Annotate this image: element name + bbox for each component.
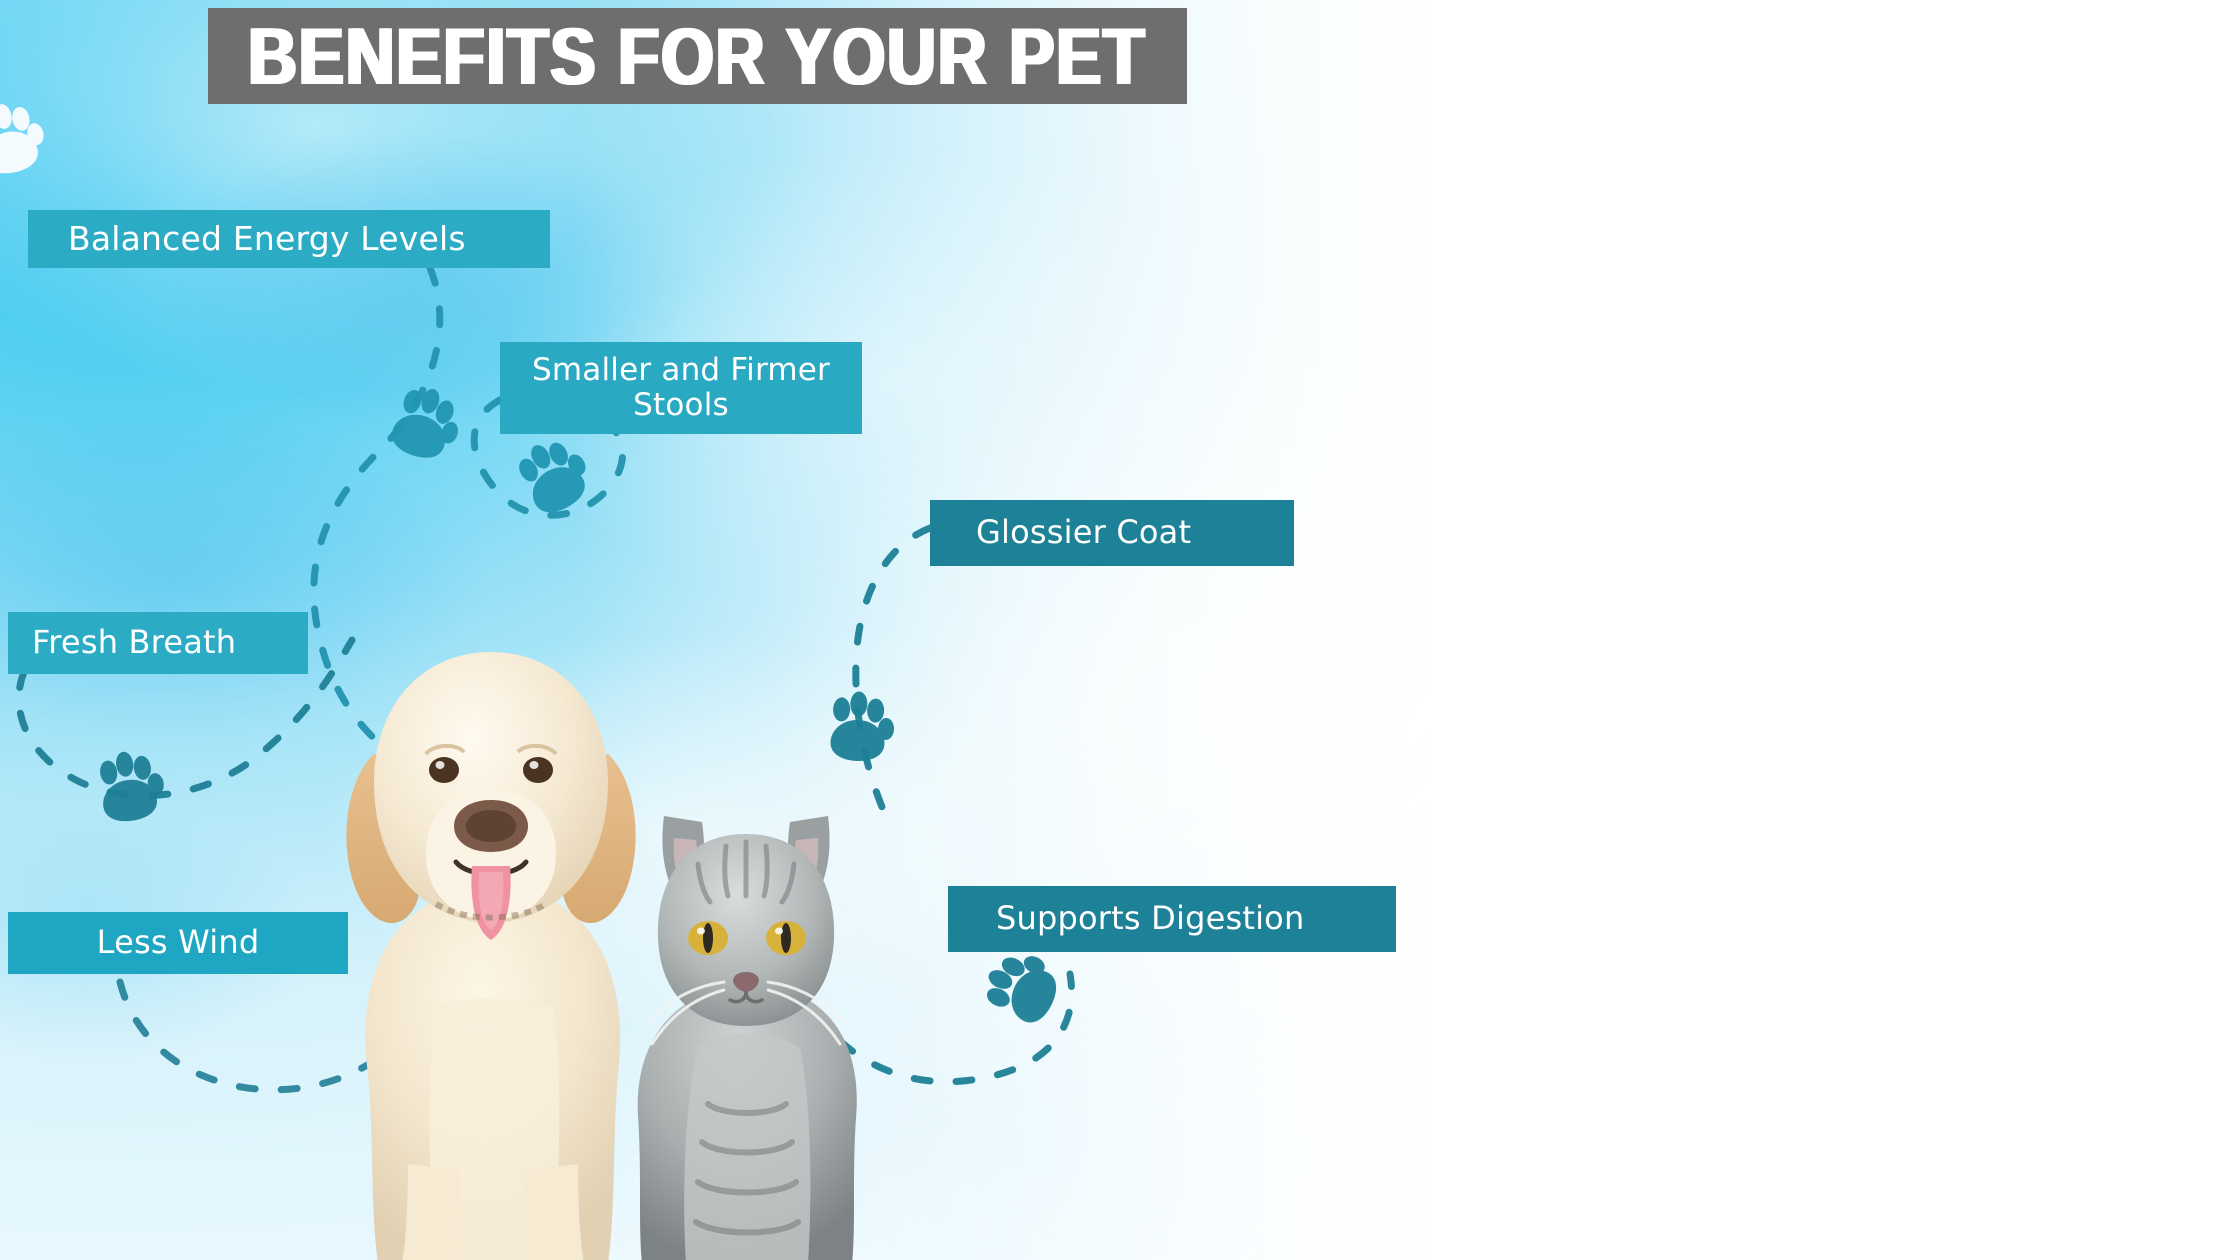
benefit-label-smaller-stools[interactable]: Smaller and Firmer Stools [500,342,862,434]
infographic-canvas: Balanced Energy Levels Smaller and Firme… [0,0,1430,1260]
benefit-label-fresh-breath[interactable]: Fresh Breath [8,612,308,674]
paw-print-breath-trail [96,747,168,825]
paw-print-digestion-trail [977,942,1067,1029]
benefit-label-less-wind[interactable]: Less Wind [8,912,348,974]
benefit-label-text-group: Smaller and Firmer Stools [532,353,830,422]
page-root: Balanced Energy Levels Smaller and Firme… [0,0,2240,1260]
trail-glossier-coat [856,528,930,812]
paw-print-stools-trail [511,429,599,520]
benefit-label-glossier-coat[interactable]: Glossier Coat [930,500,1294,566]
paw-print-energy-trail [387,381,468,467]
benefit-label-text: Supports Digestion [996,901,1304,937]
paw-print-top-left [0,97,50,178]
page-title: BENEFITS FOR YOUR PET [248,10,1146,103]
benefit-label-text: Fresh Breath [32,625,236,661]
cat-photo [612,786,880,1260]
benefit-label-balanced-energy[interactable]: Balanced Energy Levels [28,210,550,268]
benefit-label-supports-digestion[interactable]: Supports Digestion [948,886,1396,952]
benefit-label-text: Less Wind [97,925,260,961]
benefit-label-line-2: Stools [532,388,830,423]
paw-print-coat-trail [830,691,895,763]
page-title-bar: BENEFITS FOR YOUR PET [208,8,1187,104]
benefit-label-text: Balanced Energy Levels [68,221,466,258]
benefit-label-line-1: Smaller and Firmer [532,353,830,388]
benefit-label-text: Glossier Coat [976,515,1191,551]
